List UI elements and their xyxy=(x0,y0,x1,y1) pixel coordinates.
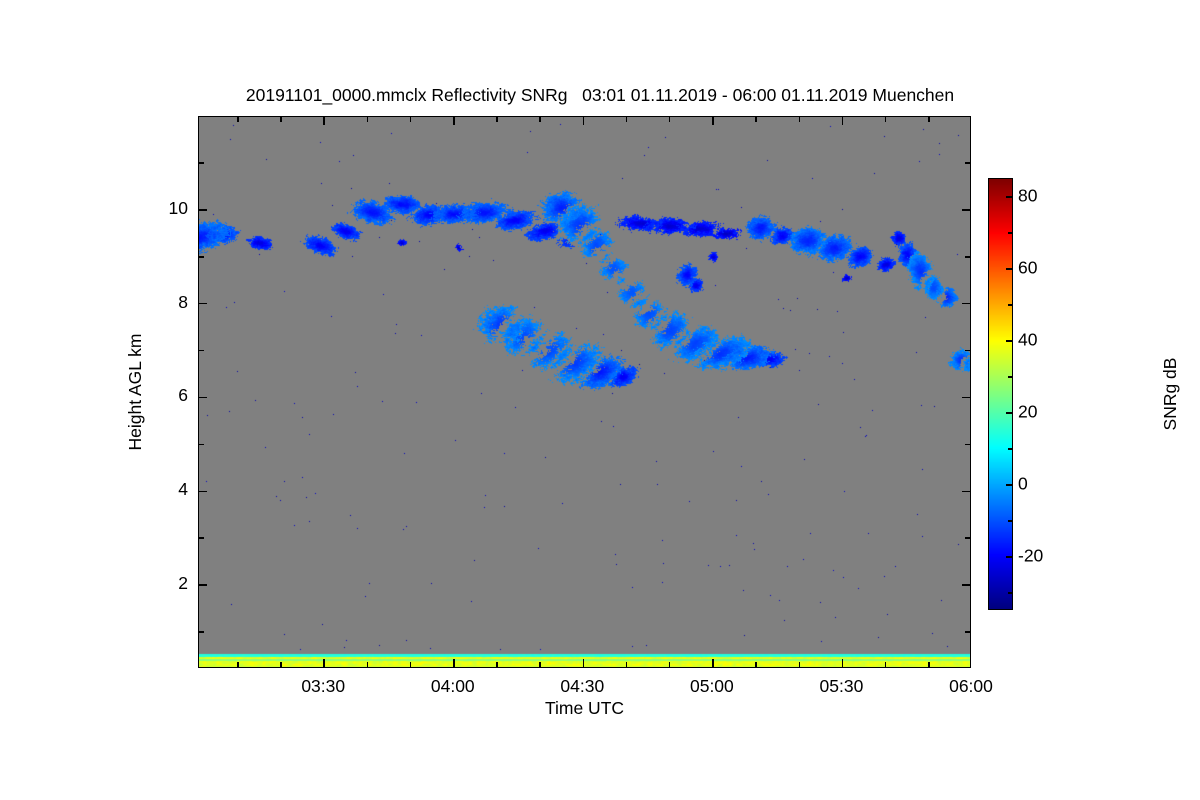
x-axis-tick-major xyxy=(712,659,714,667)
colorbar-tick-label: -20 xyxy=(1018,546,1043,567)
colorbar-tick-major xyxy=(1006,412,1012,414)
y-axis-tick-minor xyxy=(199,162,204,164)
colorbar-tick-minor xyxy=(1008,232,1012,234)
colorbar-tick-label: 60 xyxy=(1018,258,1037,279)
colorbar-gradient xyxy=(989,179,1012,609)
x-axis-tick-minor xyxy=(885,117,887,122)
y-axis-tick-minor xyxy=(965,444,970,446)
y-axis-tick-minor xyxy=(199,631,204,633)
x-axis-tick-minor xyxy=(928,662,930,667)
colorbar-tick-minor xyxy=(1008,304,1012,306)
x-axis-tick-minor xyxy=(799,662,801,667)
colorbar-tick-label: 40 xyxy=(1018,330,1037,351)
figure-canvas: 20191101_0000.mmclx Reflectivity SNRg 03… xyxy=(0,0,1200,800)
x-axis-tick-major xyxy=(453,659,455,667)
y-axis-title: Height AGL km xyxy=(125,242,146,542)
colorbar-tick-label: 20 xyxy=(1018,402,1037,423)
y-axis-tick-label: 10 xyxy=(148,198,188,219)
y-axis-tick-minor xyxy=(965,162,970,164)
plot-axes[interactable] xyxy=(198,116,971,668)
y-axis-tick-major xyxy=(199,397,207,399)
x-axis-tick-minor xyxy=(280,117,282,122)
y-axis-tick-major xyxy=(962,491,970,493)
colorbar-tick-label: 0 xyxy=(1018,474,1028,495)
y-axis-tick-major xyxy=(199,303,207,305)
colorbar-tick-minor xyxy=(1008,376,1012,378)
y-axis-tick-minor xyxy=(965,256,970,258)
x-axis-tick-label: 04:30 xyxy=(532,676,632,697)
x-axis-tick-minor xyxy=(626,662,628,667)
x-axis-title: Time UTC xyxy=(198,698,971,719)
y-axis-tick-minor xyxy=(199,444,204,446)
y-axis-tick-major xyxy=(962,303,970,305)
y-axis-tick-minor xyxy=(199,256,204,258)
colorbar-tick-major xyxy=(1006,340,1012,342)
x-axis-tick-major xyxy=(842,659,844,667)
y-axis-tick-major xyxy=(199,491,207,493)
y-axis-tick-label: 4 xyxy=(148,479,188,500)
x-axis-tick-minor xyxy=(367,117,369,122)
x-axis-tick-major xyxy=(323,659,325,667)
y-axis-tick-minor xyxy=(965,350,970,352)
colorbar-tick-label: 80 xyxy=(1018,186,1037,207)
colorbar-tick-major xyxy=(1006,196,1012,198)
x-axis-tick-minor xyxy=(367,662,369,667)
x-axis-tick-minor xyxy=(539,662,541,667)
page-title: 20191101_0000.mmclx Reflectivity SNRg 03… xyxy=(0,85,1200,106)
x-axis-tick-minor xyxy=(237,117,239,122)
colorbar-tick-minor xyxy=(1008,448,1012,450)
x-axis-tick-minor xyxy=(237,662,239,667)
x-axis-tick-minor xyxy=(496,662,498,667)
y-axis-tick-minor xyxy=(965,537,970,539)
y-axis-tick-label: 8 xyxy=(148,292,188,313)
x-axis-tick-major xyxy=(712,117,714,125)
y-axis-tick-major xyxy=(962,209,970,211)
x-axis-tick-minor xyxy=(885,662,887,667)
x-axis-tick-minor xyxy=(755,662,757,667)
x-axis-tick-label: 03:30 xyxy=(273,676,373,697)
x-axis-tick-major xyxy=(583,659,585,667)
x-axis-tick-minor xyxy=(410,662,412,667)
radar-time-height-heatmap[interactable] xyxy=(199,117,971,668)
x-axis-tick-minor xyxy=(410,117,412,122)
y-axis-tick-major xyxy=(199,584,207,586)
x-axis-tick-minor xyxy=(496,117,498,122)
x-axis-tick-major xyxy=(453,117,455,125)
x-axis-tick-minor xyxy=(539,117,541,122)
x-axis-tick-minor xyxy=(626,117,628,122)
x-axis-tick-major xyxy=(323,117,325,125)
x-axis-tick-minor xyxy=(928,117,930,122)
colorbar-tick-major xyxy=(1006,268,1012,270)
x-axis-tick-label: 05:30 xyxy=(791,676,891,697)
y-axis-tick-major xyxy=(962,584,970,586)
x-axis-tick-minor xyxy=(799,117,801,122)
x-axis-tick-minor xyxy=(669,117,671,122)
y-axis-tick-label: 6 xyxy=(148,385,188,406)
colorbar-tick-minor xyxy=(1008,520,1012,522)
colorbar-title: SNRg dB xyxy=(1160,274,1181,514)
x-axis-tick-major xyxy=(842,117,844,125)
colorbar-tick-major xyxy=(1006,484,1012,486)
colorbar-tick-major xyxy=(1006,556,1012,558)
y-axis-tick-minor xyxy=(199,350,204,352)
y-axis-tick-major xyxy=(962,397,970,399)
y-axis-tick-major xyxy=(199,209,207,211)
x-axis-tick-label: 04:00 xyxy=(403,676,503,697)
y-axis-tick-minor xyxy=(965,631,970,633)
x-axis-tick-major xyxy=(583,117,585,125)
x-axis-tick-label: 05:00 xyxy=(662,676,762,697)
x-axis-tick-label: 06:00 xyxy=(921,676,1021,697)
y-axis-tick-minor xyxy=(199,537,204,539)
x-axis-tick-minor xyxy=(755,117,757,122)
colorbar-tick-minor xyxy=(1008,592,1012,594)
y-axis-tick-label: 2 xyxy=(148,573,188,594)
x-axis-tick-minor xyxy=(669,662,671,667)
x-axis-tick-minor xyxy=(280,662,282,667)
colorbar[interactable] xyxy=(988,178,1013,610)
